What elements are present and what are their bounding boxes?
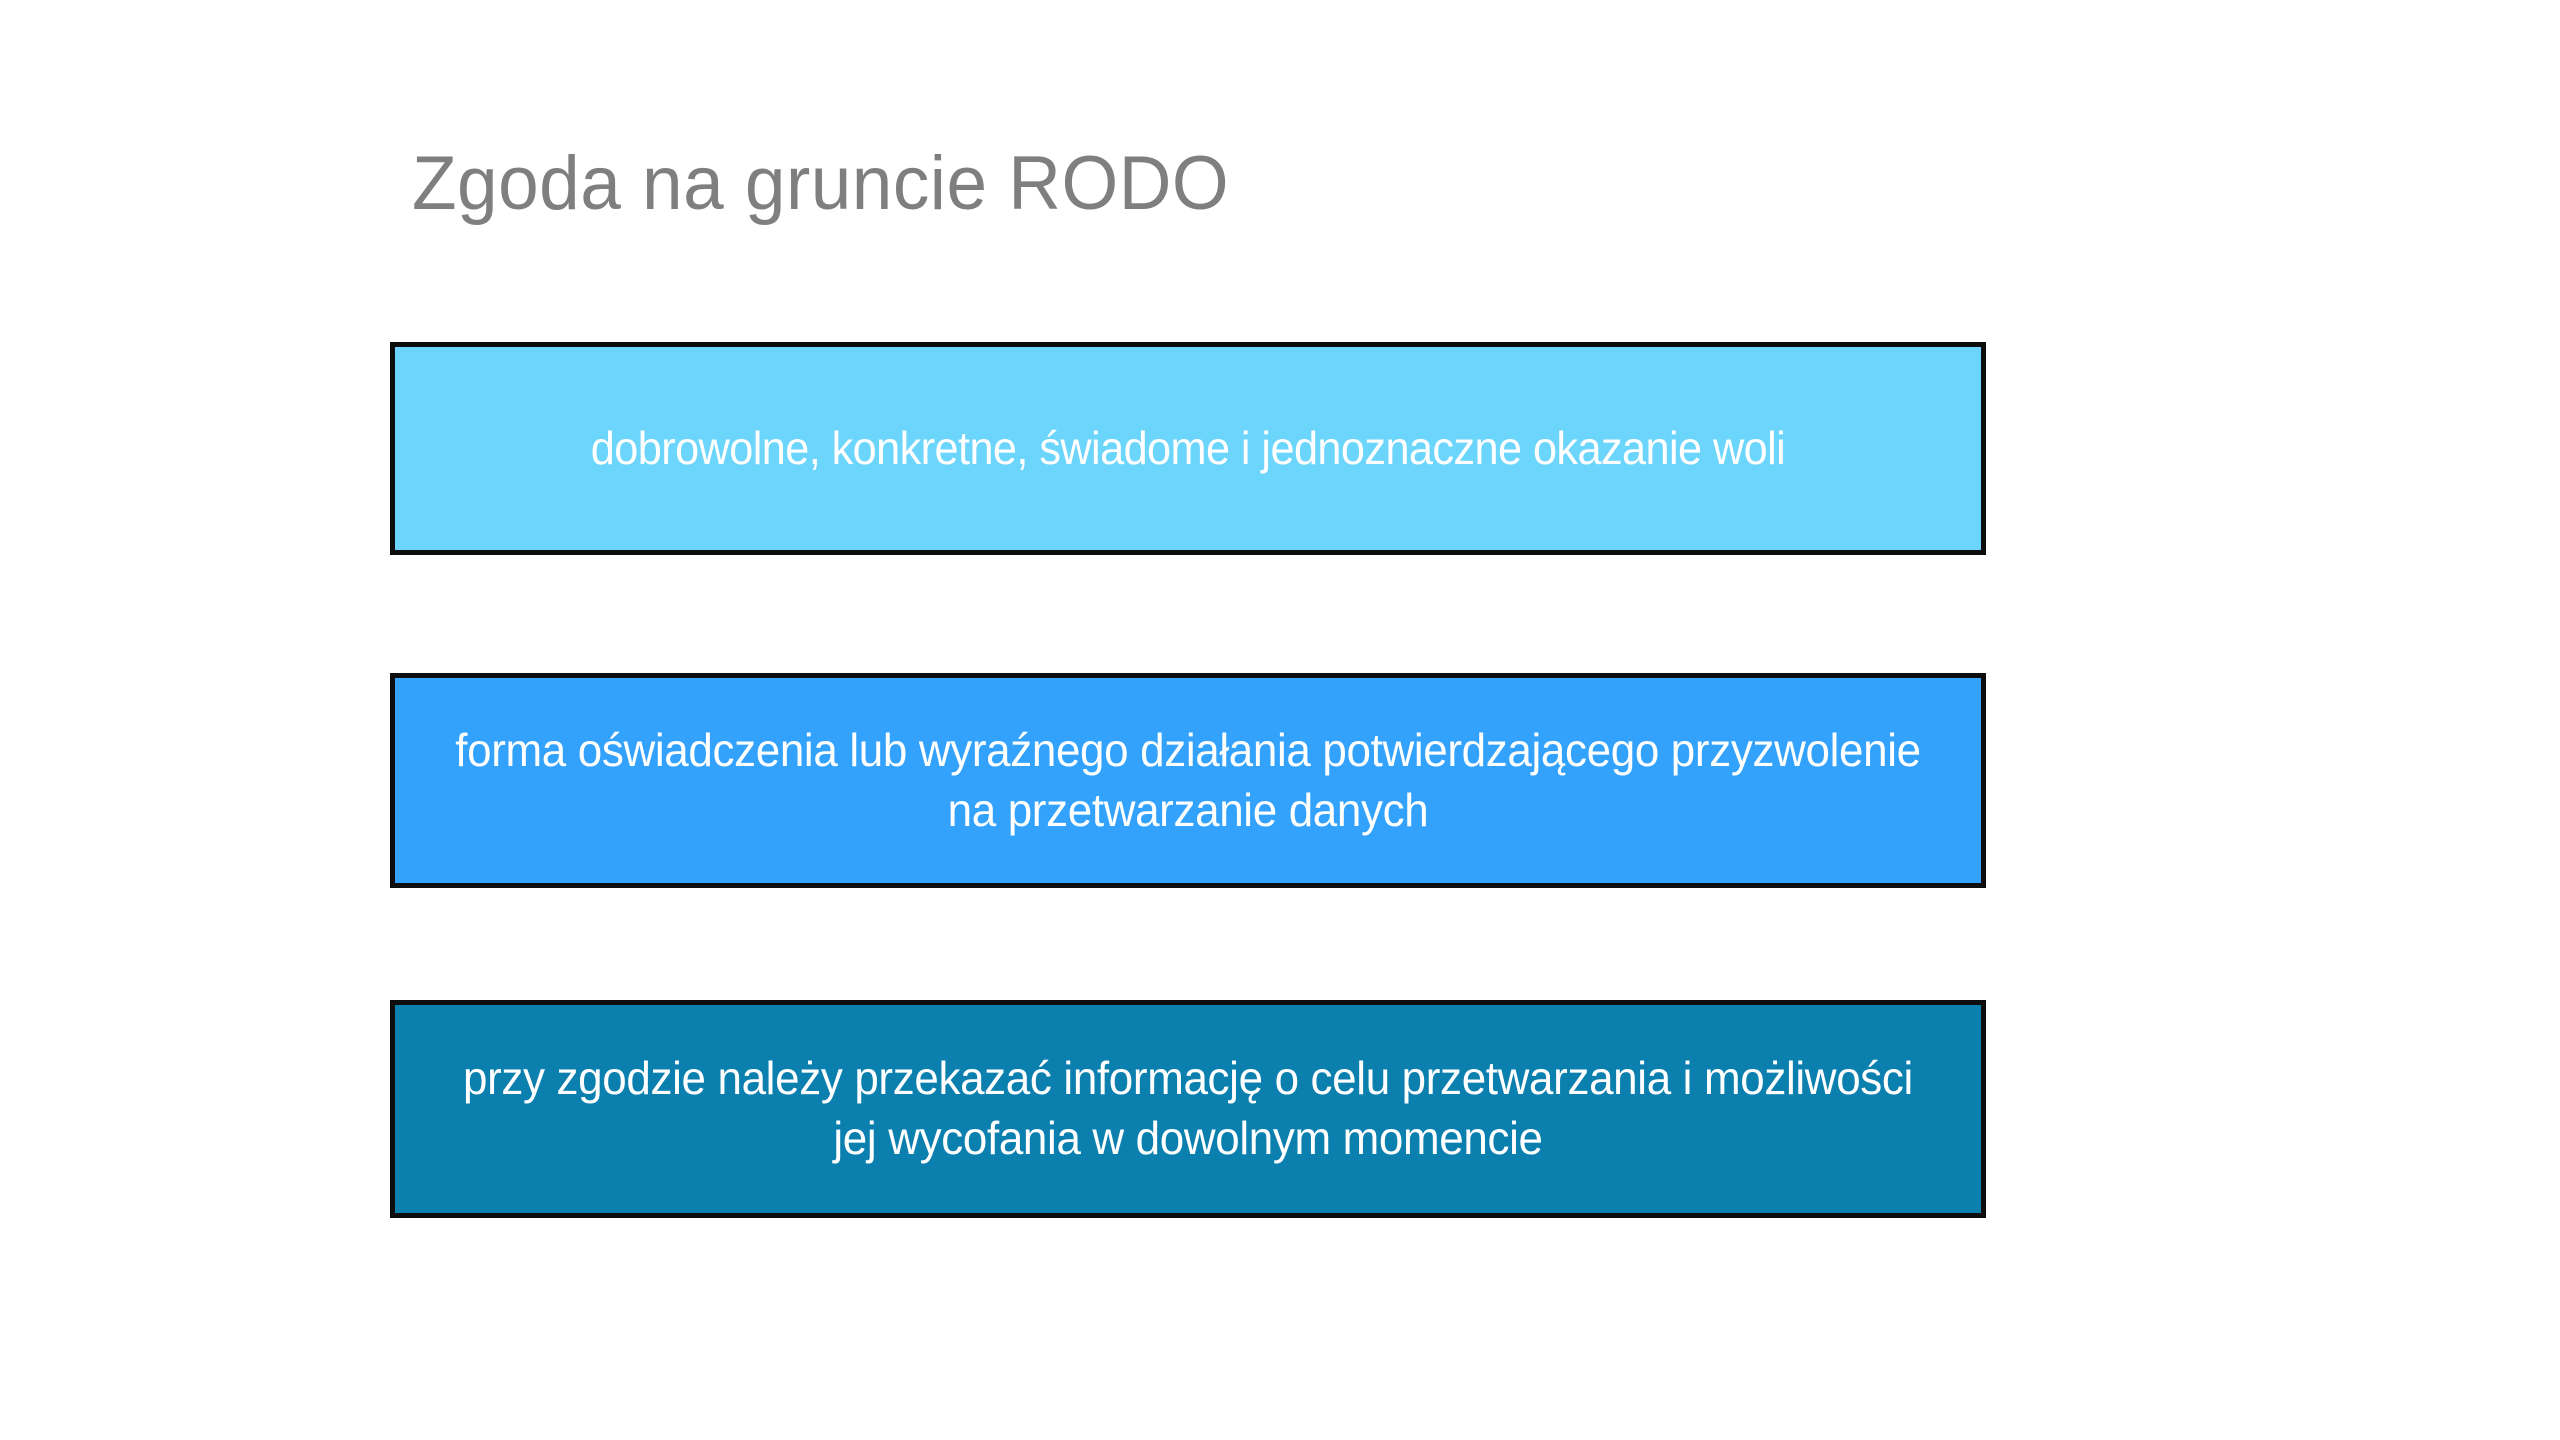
page-title: Zgoda na gruncie RODO xyxy=(412,143,2044,225)
slide-canvas: Zgoda na gruncie RODO dobrowolne, konkre… xyxy=(0,0,2560,1440)
flow-box-3-label: przy zgodzie należy przekazać informację… xyxy=(431,1049,1946,1169)
flow-box-2-label: forma oświadczenia lub wyraźnego działan… xyxy=(431,721,1946,841)
flow-box-2[interactable]: forma oświadczenia lub wyraźnego działan… xyxy=(390,673,1986,888)
flow-box-1[interactable]: dobrowolne, konkretne, świadome i jednoz… xyxy=(390,342,1986,555)
flow-box-1-label: dobrowolne, konkretne, świadome i jednoz… xyxy=(443,419,1934,479)
flow-box-3[interactable]: przy zgodzie należy przekazać informację… xyxy=(390,1000,1986,1218)
